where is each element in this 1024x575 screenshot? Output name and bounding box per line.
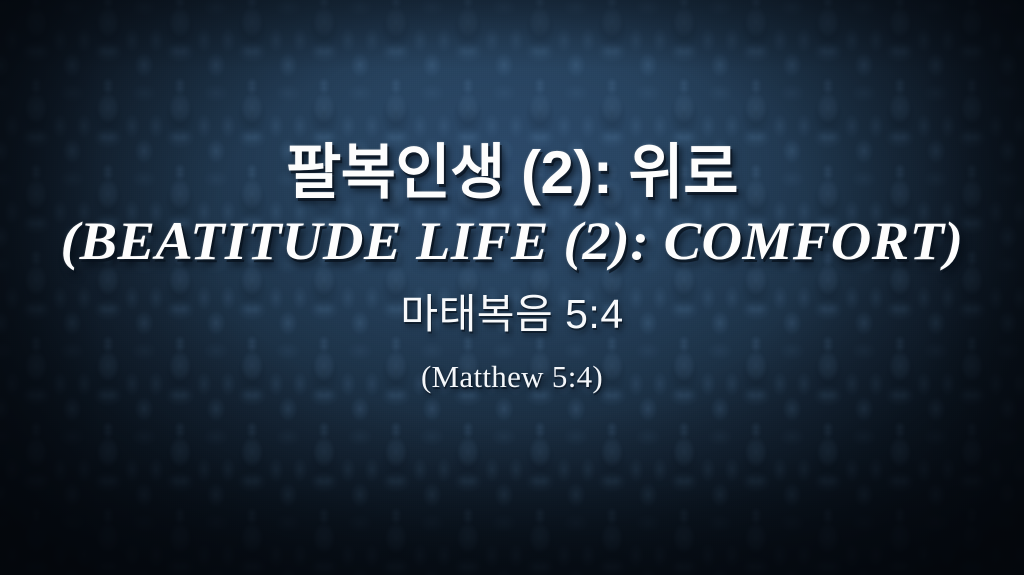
scripture-reference-english: (Matthew 5:4) (0, 361, 1024, 392)
slide-content: 팔복인생 (2): 위로 (BEATITUDE LIFE (2): COMFOR… (0, 0, 1024, 575)
slide-title-korean: 팔복인생 (2): 위로 (0, 143, 1024, 203)
title-slide: 팔복인생 (2): 위로 (BEATITUDE LIFE (2): COMFOR… (0, 0, 1024, 575)
scripture-reference-korean: 마태복음 5:4 (0, 294, 1024, 335)
slide-title-english: (BEATITUDE LIFE (2): COMFORT) (0, 214, 1024, 268)
